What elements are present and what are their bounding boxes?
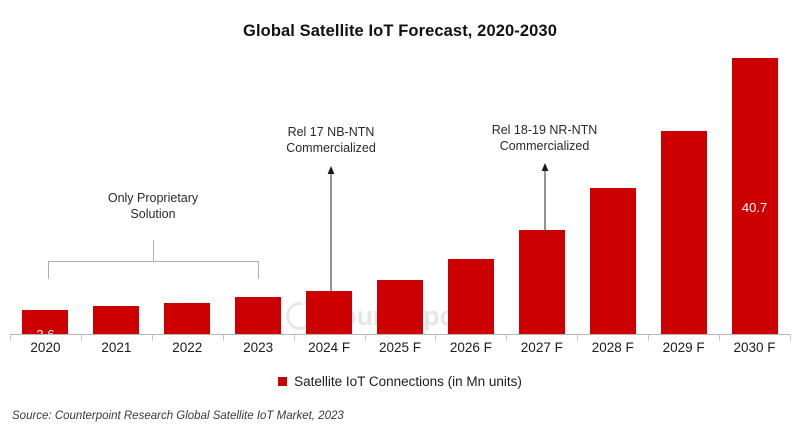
bar-value-label-2030-f: 40.7 xyxy=(732,200,778,215)
annotation-arrow-up-icon xyxy=(539,163,551,233)
plot-area: Counterpoint 3.640.7 2020202120222023202… xyxy=(0,0,800,334)
bar-2027-f[interactable] xyxy=(519,230,565,334)
x-axis-label-2021: 2021 xyxy=(81,340,152,355)
annotation-line-2: Solution xyxy=(48,206,258,222)
bracket-stem xyxy=(153,240,154,261)
bar-2022[interactable] xyxy=(164,303,210,334)
legend-swatch-satellite-iot-connections xyxy=(278,377,287,386)
proprietary-span-bracket xyxy=(48,261,259,279)
x-axis-label-2025-f: 2025 F xyxy=(365,340,436,355)
bracket-horizontal-line xyxy=(48,261,259,262)
annotation-line-2: Commercialized xyxy=(246,140,416,156)
bracket-left-tick xyxy=(48,261,49,279)
annotation-line-1: Rel 18-19 NR-NTN xyxy=(452,122,637,138)
bar-2025-f[interactable] xyxy=(377,280,423,334)
chart-container: Global Satellite IoT Forecast, 2020-2030… xyxy=(0,0,800,438)
x-axis-label-2027-f: 2027 F xyxy=(506,340,577,355)
annotation-only-proprietary-solution: Only Proprietary Solution xyxy=(48,190,258,222)
x-axis-line xyxy=(10,334,790,335)
bar-2021[interactable] xyxy=(93,306,139,334)
bracket-right-tick xyxy=(258,261,259,279)
annotation-line-1: Only Proprietary xyxy=(48,190,258,206)
x-axis-label-2020: 2020 xyxy=(10,340,81,355)
annotation-arrow-up-icon xyxy=(325,166,337,292)
x-axis-label-2023: 2023 xyxy=(223,340,294,355)
annotation-line-2: Commercialized xyxy=(452,138,637,154)
source-note: Source: Counterpoint Research Global Sat… xyxy=(12,410,344,422)
bar-2029-f[interactable] xyxy=(661,131,707,334)
x-axis-label-2030-f: 2030 F xyxy=(719,340,790,355)
x-axis-label-2029-f: 2029 F xyxy=(648,340,719,355)
annotation-line-1: Rel 17 NB-NTN xyxy=(246,124,416,140)
x-axis-label-2024-f: 2024 F xyxy=(294,340,365,355)
chart-legend: Satellite IoT Connections (in Mn units) xyxy=(0,374,800,389)
x-axis-label-2022: 2022 xyxy=(152,340,223,355)
bar-2028-f[interactable] xyxy=(590,188,636,334)
annotation-rel-17-nb-ntn: Rel 17 NB-NTN Commercialized xyxy=(246,124,416,156)
axis-tick xyxy=(790,334,791,341)
legend-label-satellite-iot-connections: Satellite IoT Connections (in Mn units) xyxy=(294,374,522,389)
x-axis-label-2026-f: 2026 F xyxy=(435,340,506,355)
x-axis-label-2028-f: 2028 F xyxy=(577,340,648,355)
bar-2023[interactable] xyxy=(235,297,281,334)
bar-2026-f[interactable] xyxy=(448,259,494,334)
annotation-rel-18-19-nr-ntn: Rel 18-19 NR-NTN Commercialized xyxy=(452,122,637,154)
bar-2030-f[interactable] xyxy=(732,58,778,334)
bar-2024-f[interactable] xyxy=(306,291,352,334)
